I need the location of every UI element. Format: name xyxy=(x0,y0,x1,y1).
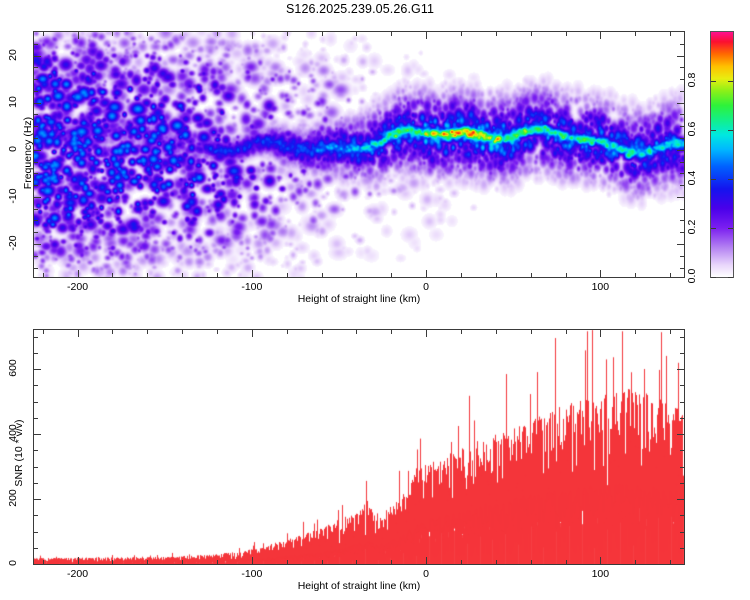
tick-mark xyxy=(147,32,148,36)
spectrogram-ytick-2: 0 xyxy=(7,135,19,163)
tick-mark xyxy=(34,434,41,435)
tick-mark xyxy=(677,56,684,57)
tick-mark xyxy=(182,330,183,334)
tick-mark xyxy=(287,273,288,277)
tick-mark xyxy=(78,330,79,337)
tick-mark xyxy=(711,179,716,180)
snr-xtick-0: -200 xyxy=(67,568,88,580)
tick-mark xyxy=(287,32,288,36)
spectrogram-ytick-1: 10 xyxy=(7,88,19,116)
tick-mark xyxy=(34,56,41,57)
tick-mark xyxy=(34,483,38,484)
tick-mark xyxy=(252,32,253,39)
tick-mark xyxy=(680,114,684,115)
tick-mark xyxy=(34,402,38,403)
tick-mark xyxy=(112,273,113,277)
tick-mark xyxy=(680,256,684,257)
tick-mark xyxy=(252,270,253,277)
spectrogram-xtick-0: -200 xyxy=(67,281,88,293)
tick-mark xyxy=(34,532,38,533)
tick-mark xyxy=(600,557,601,564)
tick-mark xyxy=(34,385,38,386)
tick-mark xyxy=(34,564,41,565)
tick-mark xyxy=(426,270,427,277)
tick-mark xyxy=(43,560,44,564)
tick-mark xyxy=(600,32,601,39)
snr-xtick-3: 100 xyxy=(592,568,610,580)
tick-mark xyxy=(34,150,41,151)
tick-mark xyxy=(600,330,601,337)
tick-mark xyxy=(287,560,288,564)
tick-mark xyxy=(182,273,183,277)
colorbar-gradient xyxy=(710,31,734,278)
tick-mark xyxy=(680,91,684,92)
tick-mark xyxy=(531,330,532,334)
tick-mark xyxy=(566,273,567,277)
tick-mark xyxy=(112,330,113,334)
tick-mark xyxy=(356,330,357,334)
tick-mark xyxy=(182,560,183,564)
tick-mark xyxy=(680,337,684,338)
tick-mark xyxy=(34,197,41,198)
tick-mark xyxy=(728,179,733,180)
tick-mark xyxy=(34,244,41,245)
tick-mark xyxy=(34,209,38,210)
tick-mark xyxy=(531,273,532,277)
tick-mark xyxy=(711,277,716,278)
tick-mark xyxy=(566,330,567,334)
tick-mark xyxy=(34,232,38,233)
colorbar-tick-4: 0.8 xyxy=(686,66,698,94)
tick-mark xyxy=(322,273,323,277)
tick-mark xyxy=(34,138,38,139)
tick-mark xyxy=(680,418,684,419)
tick-mark xyxy=(711,130,716,131)
snr-y-axis-title: SNR (10 * v/v) xyxy=(13,398,25,508)
tick-mark xyxy=(677,244,684,245)
tick-mark xyxy=(43,273,44,277)
tick-mark xyxy=(680,162,684,163)
tick-mark xyxy=(728,277,733,278)
tick-mark xyxy=(680,209,684,210)
snr-ytick-0: 0 xyxy=(7,549,19,577)
tick-mark xyxy=(635,273,636,277)
tick-mark xyxy=(34,114,38,115)
tick-mark xyxy=(635,32,636,36)
tick-mark xyxy=(680,44,684,45)
tick-mark xyxy=(147,330,148,334)
spectrogram-ytick-3: -10 xyxy=(7,182,19,210)
tick-mark xyxy=(217,32,218,36)
tick-mark xyxy=(461,273,462,277)
tick-mark xyxy=(426,32,427,39)
tick-mark xyxy=(680,532,684,533)
tick-mark xyxy=(34,220,38,221)
tick-mark xyxy=(496,273,497,277)
tick-mark xyxy=(217,273,218,277)
tick-mark xyxy=(322,560,323,564)
tick-mark xyxy=(677,103,684,104)
tick-mark xyxy=(391,330,392,334)
tick-mark xyxy=(34,353,38,354)
tick-mark xyxy=(680,173,684,174)
tick-mark xyxy=(34,337,38,338)
snr-x-axis-title: Height of straight line (km) xyxy=(298,580,421,592)
tick-mark xyxy=(78,270,79,277)
spectrogram-xtick-2: 0 xyxy=(423,281,429,293)
tick-mark xyxy=(34,450,38,451)
tick-mark xyxy=(252,557,253,564)
tick-mark xyxy=(34,185,38,186)
tick-mark xyxy=(635,330,636,334)
tick-mark xyxy=(461,560,462,564)
tick-mark xyxy=(322,32,323,36)
tick-mark xyxy=(34,256,38,257)
tick-mark xyxy=(680,450,684,451)
tick-mark xyxy=(531,560,532,564)
tick-mark xyxy=(43,330,44,334)
tick-mark xyxy=(680,185,684,186)
tick-mark xyxy=(356,273,357,277)
tick-mark xyxy=(496,330,497,334)
tick-mark xyxy=(43,32,44,36)
spectrogram-plot-area xyxy=(33,31,685,278)
tick-mark xyxy=(680,548,684,549)
tick-mark xyxy=(356,560,357,564)
tick-mark xyxy=(680,467,684,468)
tick-mark xyxy=(728,130,733,131)
tick-mark xyxy=(635,560,636,564)
tick-mark xyxy=(461,330,462,334)
tick-mark xyxy=(680,220,684,221)
tick-mark xyxy=(677,499,684,500)
tick-mark xyxy=(34,467,38,468)
tick-mark xyxy=(34,268,38,269)
tick-mark xyxy=(680,353,684,354)
spectrogram-canvas xyxy=(34,32,684,277)
tick-mark xyxy=(34,369,41,370)
tick-mark xyxy=(34,418,38,419)
tick-mark xyxy=(680,232,684,233)
tick-mark xyxy=(680,67,684,68)
tick-mark xyxy=(34,162,38,163)
tick-mark xyxy=(677,564,684,565)
tick-mark xyxy=(391,273,392,277)
colorbar-tick-3: 0.6 xyxy=(686,115,698,143)
tick-mark xyxy=(34,126,38,127)
tick-mark xyxy=(496,560,497,564)
tick-mark xyxy=(677,434,684,435)
tick-mark xyxy=(287,330,288,334)
tick-mark xyxy=(147,560,148,564)
tick-mark xyxy=(496,32,497,36)
tick-mark xyxy=(34,79,38,80)
snr-plot-area xyxy=(33,329,685,565)
tick-mark xyxy=(34,515,38,516)
spectrogram-x-axis-title: Height of straight line (km) xyxy=(298,293,421,305)
tick-mark xyxy=(147,273,148,277)
tick-mark xyxy=(34,44,38,45)
tick-mark xyxy=(34,173,38,174)
tick-mark xyxy=(711,81,716,82)
tick-mark xyxy=(728,81,733,82)
tick-mark xyxy=(78,557,79,564)
tick-mark xyxy=(677,150,684,151)
figure-root: S126.2025.239.05.26.G11 -200-10001002010… xyxy=(0,0,750,600)
tick-mark xyxy=(34,103,41,104)
tick-mark xyxy=(182,32,183,36)
tick-mark xyxy=(531,32,532,36)
colorbar-tick-2: 0.4 xyxy=(686,164,698,192)
tick-mark xyxy=(677,369,684,370)
tick-mark xyxy=(566,560,567,564)
spectrogram-ytick-0: 20 xyxy=(7,41,19,69)
tick-mark xyxy=(34,548,38,549)
tick-mark xyxy=(34,499,41,500)
tick-mark xyxy=(680,402,684,403)
tick-mark xyxy=(680,268,684,269)
spectrogram-y-axis-title: Frequency (Hz) xyxy=(22,98,34,208)
spectrogram-xtick-1: -100 xyxy=(241,281,262,293)
snr-xtick-2: 0 xyxy=(423,568,429,580)
tick-mark xyxy=(566,32,567,36)
tick-mark xyxy=(112,560,113,564)
colorbar-tick-1: 0.2 xyxy=(686,213,698,241)
tick-mark xyxy=(680,385,684,386)
colorbar-tick-0: 0.0 xyxy=(686,262,698,290)
spectrogram-xtick-3: 100 xyxy=(592,281,610,293)
spectrogram-ytick-4: -20 xyxy=(7,229,19,257)
tick-mark xyxy=(728,228,733,229)
tick-mark xyxy=(78,32,79,39)
snr-xtick-1: -100 xyxy=(241,568,262,580)
tick-mark xyxy=(217,330,218,334)
tick-mark xyxy=(680,79,684,80)
tick-mark xyxy=(252,330,253,337)
tick-mark xyxy=(670,330,671,334)
tick-mark xyxy=(34,91,38,92)
tick-mark xyxy=(391,32,392,36)
snr-canvas xyxy=(34,330,684,564)
tick-mark xyxy=(217,560,218,564)
figure-title: S126.2025.239.05.26.G11 xyxy=(0,2,720,16)
tick-mark xyxy=(680,126,684,127)
tick-mark xyxy=(34,67,38,68)
tick-mark xyxy=(677,197,684,198)
tick-mark xyxy=(670,32,671,36)
snr-ytick-3: 600 xyxy=(7,354,19,382)
tick-mark xyxy=(461,32,462,36)
tick-mark xyxy=(680,515,684,516)
tick-mark xyxy=(680,483,684,484)
tick-mark xyxy=(322,330,323,334)
tick-mark xyxy=(426,557,427,564)
tick-mark xyxy=(391,560,392,564)
colorbar xyxy=(710,31,734,278)
tick-mark xyxy=(670,560,671,564)
tick-mark xyxy=(711,228,716,229)
tick-mark xyxy=(356,32,357,36)
tick-mark xyxy=(670,273,671,277)
tick-mark xyxy=(600,270,601,277)
tick-mark xyxy=(112,32,113,36)
tick-mark xyxy=(680,138,684,139)
tick-mark xyxy=(426,330,427,337)
